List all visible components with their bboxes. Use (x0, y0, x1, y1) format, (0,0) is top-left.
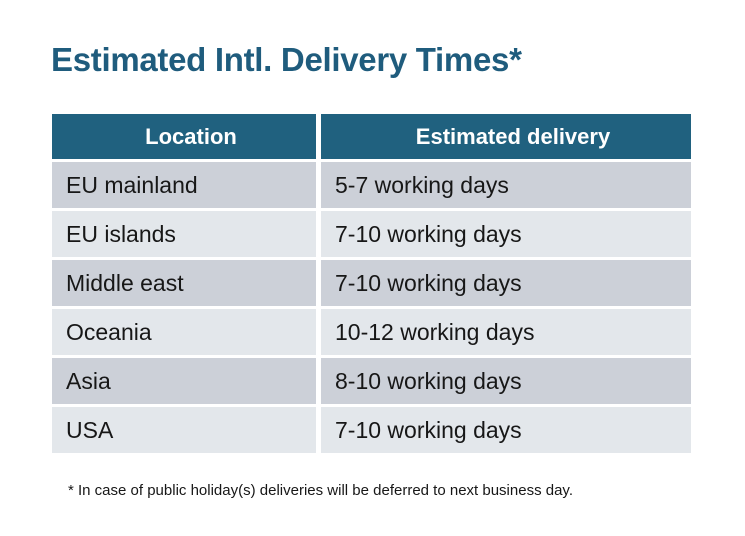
cell-delivery-text: 5-7 working days (321, 162, 691, 208)
table-row: USA 7-10 working days (52, 407, 691, 453)
cell-delivery: 7-10 working days (321, 260, 691, 306)
column-header-estimated-delivery-label: Estimated delivery (321, 114, 691, 159)
cell-delivery: 8-10 working days (321, 358, 691, 404)
cell-delivery: 10-12 working days (321, 309, 691, 355)
table-row: Middle east 7-10 working days (52, 260, 691, 306)
cell-delivery: 7-10 working days (321, 407, 691, 453)
table-header-row: Location Estimated delivery (52, 114, 691, 159)
column-header-location-label: Location (52, 114, 316, 159)
cell-location-text: Asia (52, 358, 316, 404)
column-header-location: Location (52, 114, 316, 159)
cell-delivery-text: 10-12 working days (321, 309, 691, 355)
cell-delivery: 5-7 working days (321, 162, 691, 208)
table-body: EU mainland 5-7 working days EU islands … (52, 159, 691, 453)
cell-location-text: EU islands (52, 211, 316, 257)
cell-location-text: EU mainland (52, 162, 316, 208)
page-title: Estimated Intl. Delivery Times* (51, 38, 522, 82)
cell-location-text: Oceania (52, 309, 316, 355)
table-row: Asia 8-10 working days (52, 358, 691, 404)
cell-location: EU islands (52, 211, 316, 257)
table-row: Oceania 10-12 working days (52, 309, 691, 355)
footnote: * In case of public holiday(s) deliverie… (68, 481, 573, 501)
estimated-delivery-times-table: Location Estimated delivery EU mainland … (52, 114, 691, 453)
cell-delivery-text: 7-10 working days (321, 407, 691, 453)
cell-location-text: USA (52, 407, 316, 453)
cell-location-text: Middle east (52, 260, 316, 306)
table-row: EU islands 7-10 working days (52, 211, 691, 257)
cell-delivery-text: 7-10 working days (321, 260, 691, 306)
cell-location: Middle east (52, 260, 316, 306)
cell-location: Asia (52, 358, 316, 404)
table-header: Location Estimated delivery (52, 114, 691, 159)
table-row: EU mainland 5-7 working days (52, 162, 691, 208)
cell-delivery: 7-10 working days (321, 211, 691, 257)
cell-delivery-text: 7-10 working days (321, 211, 691, 257)
cell-location: Oceania (52, 309, 316, 355)
cell-location: EU mainland (52, 162, 316, 208)
cell-location: USA (52, 407, 316, 453)
cell-delivery-text: 8-10 working days (321, 358, 691, 404)
delivery-times-page: Estimated Intl. Delivery Times* Location… (0, 0, 745, 536)
column-header-estimated-delivery: Estimated delivery (321, 114, 691, 159)
